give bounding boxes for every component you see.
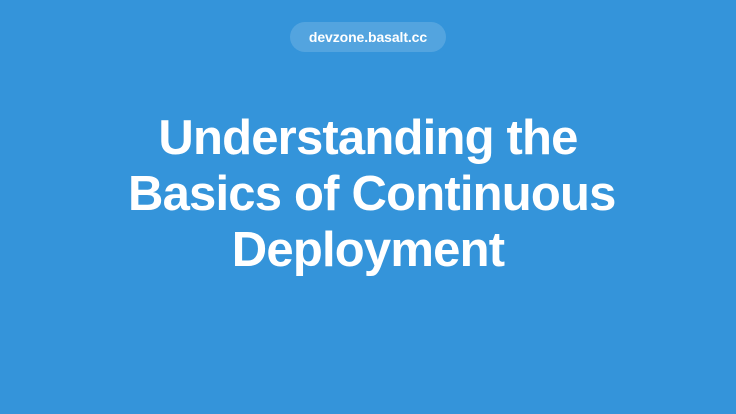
headline-block: Understanding the Basics of Continuous D… bbox=[0, 110, 736, 278]
site-domain-label: devzone.basalt.cc bbox=[309, 30, 427, 44]
headline-line-1: Understanding the bbox=[128, 110, 608, 166]
badge-row: devzone.basalt.cc bbox=[0, 22, 736, 52]
headline-line-3: Deployment bbox=[128, 222, 608, 278]
headline-line-2: Basics of Continuous bbox=[128, 166, 608, 222]
page-title: Understanding the Basics of Continuous D… bbox=[128, 110, 608, 278]
site-domain-badge[interactable]: devzone.basalt.cc bbox=[290, 22, 446, 52]
social-share-card: devzone.basalt.cc Understanding the Basi… bbox=[0, 0, 736, 414]
